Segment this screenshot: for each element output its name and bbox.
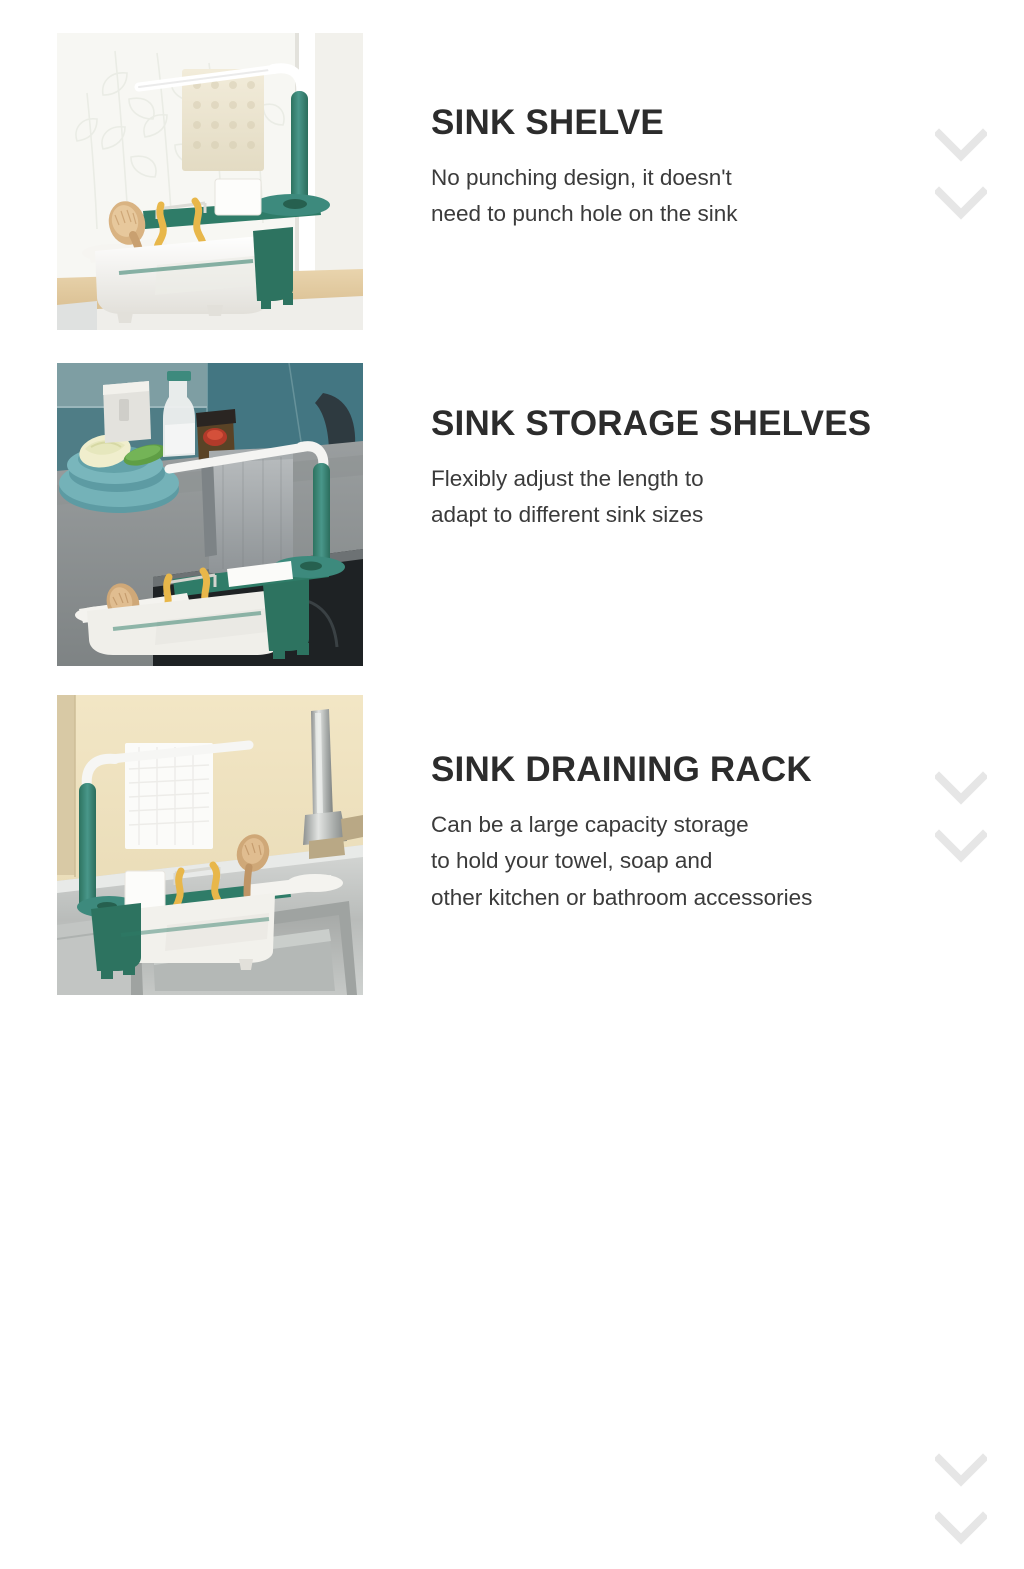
description-line: to hold your towel, soap and — [431, 843, 931, 879]
photo-2-illustration — [57, 363, 363, 666]
description-line: Can be a large capacity storage — [431, 807, 931, 843]
feature-title: SINK SHELVE — [431, 105, 931, 142]
feature-text-block: SINK DRAINING RACK Can be a large capaci… — [431, 752, 931, 916]
chevron-down-icon — [935, 1453, 987, 1487]
chevron-stack — [935, 1453, 995, 1569]
feature-row: SINK STORAGE SHELVES Flexibly adjust the… — [0, 363, 1024, 668]
product-photo-sink-shelve — [57, 33, 363, 330]
feature-description: Can be a large capacity storage to hold … — [431, 807, 931, 916]
product-photo-sink-storage-shelves — [57, 363, 363, 666]
chevron-stack — [935, 128, 995, 244]
description-line: Flexibly adjust the length to — [431, 461, 931, 497]
description-line: No punching design, it doesn't — [431, 160, 931, 196]
feature-title: SINK STORAGE SHELVES — [431, 406, 931, 443]
chevron-down-icon — [935, 128, 987, 162]
description-line: need to punch hole on the sink — [431, 196, 931, 232]
description-line: other kitchen or bathroom accessories — [431, 880, 931, 916]
product-infographic: SINK SHELVE No punching design, it doesn… — [0, 0, 1024, 1024]
chevron-down-icon — [935, 1511, 987, 1545]
feature-row: SINK SHELVE No punching design, it doesn… — [0, 33, 1024, 333]
feature-text-block: SINK SHELVE No punching design, it doesn… — [431, 105, 931, 233]
feature-description: Flexibly adjust the length to adapt to d… — [431, 461, 931, 534]
description-line: adapt to different sink sizes — [431, 497, 931, 533]
photo-3-illustration — [57, 695, 363, 995]
feature-title: SINK DRAINING RACK — [431, 752, 931, 789]
photo-1-illustration — [57, 33, 363, 330]
feature-text-block: SINK STORAGE SHELVES Flexibly adjust the… — [431, 406, 931, 534]
feature-description: No punching design, it doesn't need to p… — [431, 160, 931, 233]
feature-row: SINK DRAINING RACK Can be a large capaci… — [0, 695, 1024, 997]
product-photo-sink-draining-rack — [57, 695, 363, 995]
chevron-down-icon — [935, 186, 987, 220]
